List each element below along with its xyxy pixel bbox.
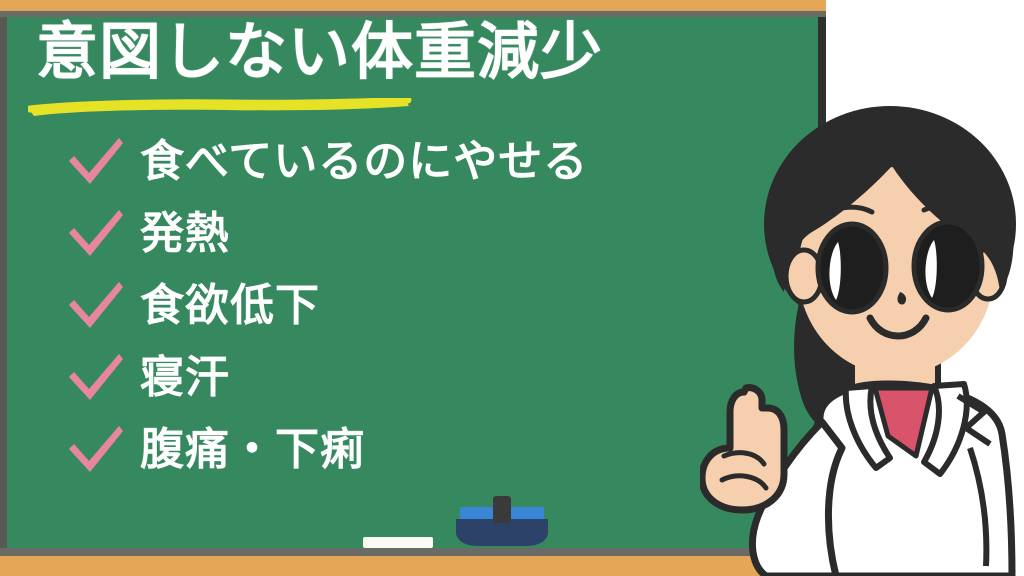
- chalk-stick-icon: [363, 537, 433, 548]
- chalkboard-frame-top: [0, 0, 826, 11]
- list-item-label: 食欲低下: [140, 284, 320, 328]
- chalkboard-eraser-icon: [454, 494, 550, 548]
- list-item-label: 発熱: [140, 212, 230, 256]
- check-icon: [64, 279, 126, 333]
- list-item: 寝汗: [64, 342, 764, 414]
- check-icon: [64, 423, 126, 477]
- list-item-label: 腹痛・下痢: [140, 428, 365, 472]
- symptom-list: 食べているのにやせる 発熱 食欲低下 寝汗: [64, 126, 764, 486]
- list-item-label: 食べているのにやせる: [140, 140, 588, 184]
- character-pointing-hand: [702, 388, 784, 510]
- list-item: 発熱: [64, 198, 764, 270]
- list-item: 食欲低下: [64, 270, 764, 342]
- page-title: 意図しない体重減少: [36, 20, 603, 85]
- list-item-label: 寝汗: [140, 356, 230, 400]
- check-icon: [64, 351, 126, 405]
- check-icon: [64, 207, 126, 261]
- slide-canvas: 意図しない体重減少 食べているのにやせる 発熱: [0, 0, 1024, 576]
- chalkboard-edge-left: [0, 17, 7, 548]
- doctor-character: [700, 96, 1024, 576]
- check-icon: [64, 135, 126, 189]
- title-underline-stroke: [28, 98, 413, 117]
- list-item: 腹痛・下痢: [64, 414, 764, 486]
- list-item: 食べているのにやせる: [64, 126, 764, 198]
